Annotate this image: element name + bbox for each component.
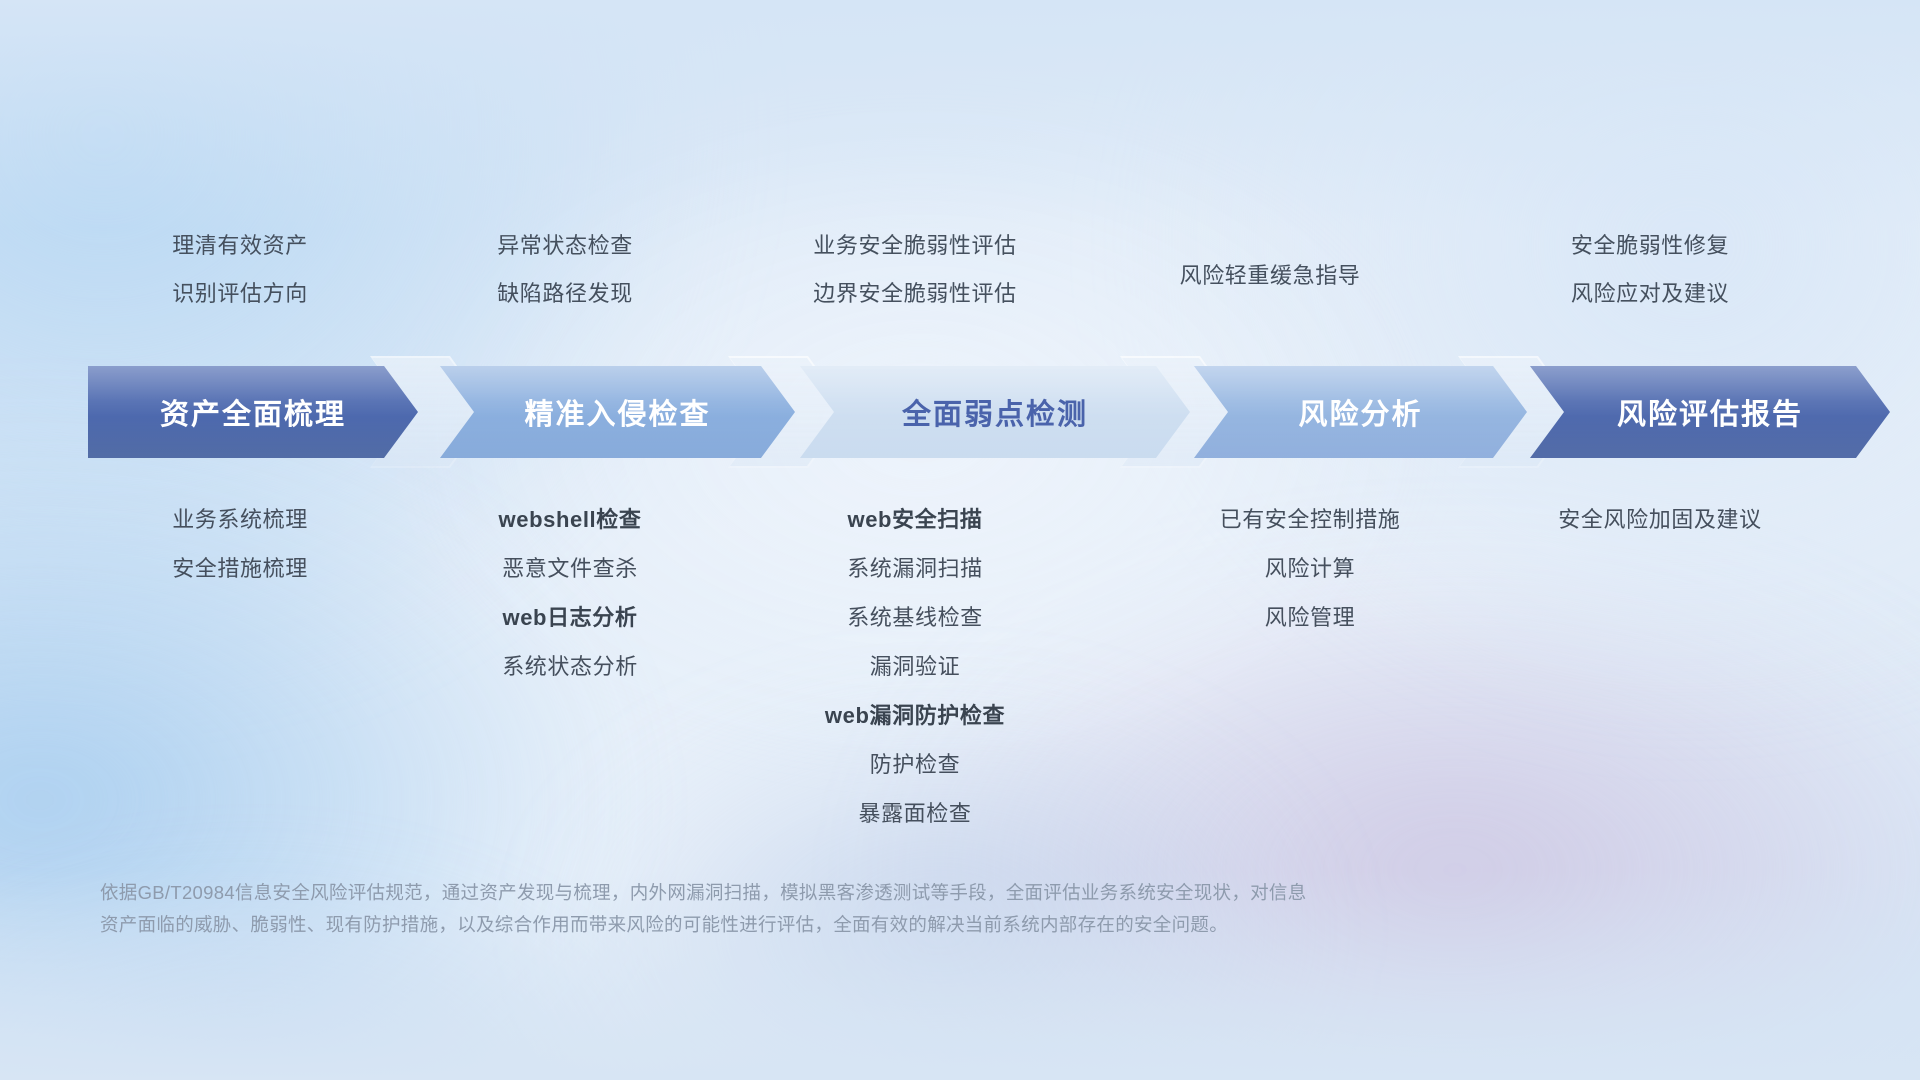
top-caption-2-line-2: 缺陷路径发现 [405, 270, 725, 318]
top-caption-2-line-1: 异常状态检查 [405, 222, 725, 270]
stage-chevron-3[interactable]: 全面弱点检测 [800, 366, 1190, 458]
bottom-caption-3-item-2: 系统漏洞扫描 [740, 544, 1090, 593]
stage-chevron-1[interactable]: 资产全面梳理 [88, 366, 418, 458]
footer-description: 依据GB/T20984信息安全风险评估规范，通过资产发现与梳理，内外网漏洞扫描，… [100, 877, 1620, 941]
stage-chevron-3-label: 全面弱点检测 [902, 391, 1088, 433]
stage-chevron-5-label: 风险评估报告 [1617, 391, 1803, 433]
bottom-caption-5-item-1: 安全风险加固及建议 [1470, 495, 1850, 544]
stage-chevron-2[interactable]: 精准入侵检查 [440, 366, 795, 458]
bottom-caption-5: 安全风险加固及建议 [1470, 495, 1850, 544]
top-caption-3-line-1: 业务安全脆弱性评估 [705, 222, 1125, 270]
top-caption-5-line-1: 安全脆弱性修复 [1480, 222, 1820, 270]
top-caption-4: 风险轻重缓急指导 [1100, 252, 1440, 300]
top-caption-5: 安全脆弱性修复 风险应对及建议 [1480, 222, 1820, 318]
bottom-caption-2-item-4: 系统状态分析 [405, 642, 735, 691]
top-caption-2: 异常状态检查 缺陷路径发现 [405, 222, 725, 318]
bottom-caption-3-item-1: web安全扫描 [740, 495, 1090, 544]
bottom-caption-2: webshell检查 恶意文件查杀 web日志分析 系统状态分析 [405, 495, 735, 691]
footer-line-2: 资产面临的威胁、脆弱性、现有防护措施，以及综合作用而带来风险的可能性进行评估，全… [100, 909, 1620, 941]
top-caption-4-line-1: 风险轻重缓急指导 [1100, 252, 1440, 300]
bottom-caption-3-item-6: 防护检查 [740, 740, 1090, 789]
bottom-caption-1-item-2: 安全措施梳理 [60, 544, 420, 593]
bottom-caption-3-item-5: web漏洞防护检查 [740, 691, 1090, 740]
bottom-caption-1: 业务系统梳理 安全措施梳理 [60, 495, 420, 593]
top-caption-3-line-2: 边界安全脆弱性评估 [705, 270, 1125, 318]
top-caption-5-line-2: 风险应对及建议 [1480, 270, 1820, 318]
bottom-caption-1-item-1: 业务系统梳理 [60, 495, 420, 544]
footer-line-1: 依据GB/T20984信息安全风险评估规范，通过资产发现与梳理，内外网漏洞扫描，… [100, 877, 1620, 909]
bottom-caption-2-item-3: web日志分析 [405, 593, 735, 642]
stage-chevron-1-label: 资产全面梳理 [160, 391, 346, 433]
bottom-caption-4-item-1: 已有安全控制措施 [1140, 495, 1480, 544]
bottom-caption-2-item-1: webshell检查 [405, 495, 735, 544]
stage-chevron-5[interactable]: 风险评估报告 [1530, 366, 1890, 458]
bottom-caption-4-item-2: 风险计算 [1140, 544, 1480, 593]
bottom-caption-2-item-2: 恶意文件查杀 [405, 544, 735, 593]
top-caption-1-line-2: 识别评估方向 [60, 270, 420, 318]
top-caption-3: 业务安全脆弱性评估 边界安全脆弱性评估 [705, 222, 1125, 318]
bottom-caption-4-item-3: 风险管理 [1140, 593, 1480, 642]
bottom-caption-4: 已有安全控制措施 风险计算 风险管理 [1140, 495, 1480, 642]
bottom-caption-3-item-3: 系统基线检查 [740, 593, 1090, 642]
stage-chevron-4[interactable]: 风险分析 [1194, 366, 1527, 458]
stage-chevron-2-label: 精准入侵检查 [524, 391, 710, 433]
top-caption-1: 理清有效资产 识别评估方向 [60, 222, 420, 318]
bottom-caption-3-item-7: 暴露面检查 [740, 789, 1090, 838]
top-caption-1-line-1: 理清有效资产 [60, 222, 420, 270]
process-diagram: 理清有效资产 识别评估方向 异常状态检查 缺陷路径发现 业务安全脆弱性评估 边界… [0, 0, 1920, 1080]
top-caption-row: 理清有效资产 识别评估方向 异常状态检查 缺陷路径发现 业务安全脆弱性评估 边界… [0, 222, 1920, 332]
bottom-caption-3-item-4: 漏洞验证 [740, 642, 1090, 691]
stage-chevron-4-label: 风险分析 [1298, 391, 1422, 433]
bottom-caption-3: web安全扫描 系统漏洞扫描 系统基线检查 漏洞验证 web漏洞防护检查 防护检… [740, 495, 1090, 838]
